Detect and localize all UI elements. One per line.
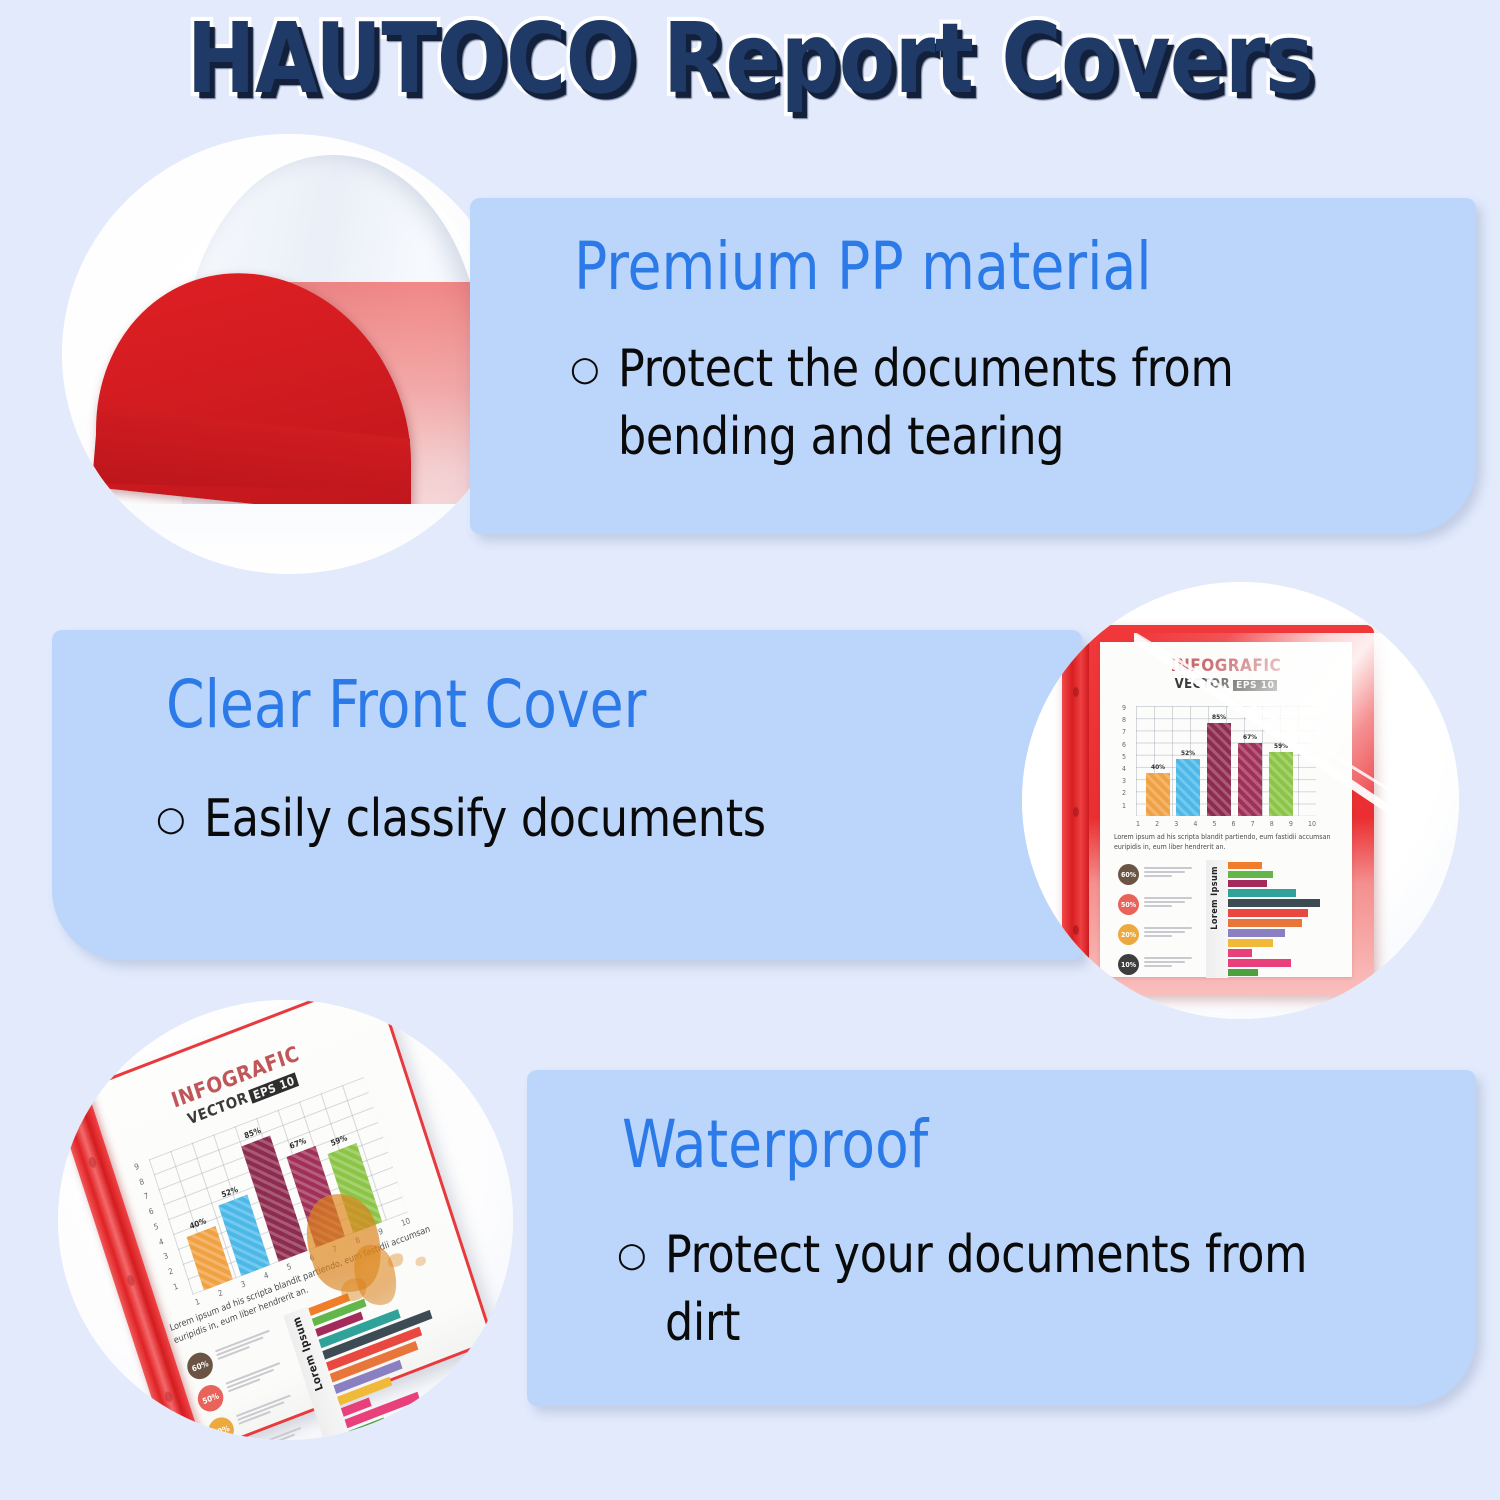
feature-bullet: ○ Easily classify documents bbox=[156, 786, 1056, 854]
chart-bar-label: 67% bbox=[1243, 733, 1257, 741]
stat-badge-text-lines bbox=[1144, 927, 1192, 939]
chart-bar-label: 40% bbox=[1151, 763, 1165, 771]
feature-bullet-text: Protect your documents from dirt bbox=[665, 1222, 1380, 1357]
hbar bbox=[1228, 949, 1252, 957]
stat-badge-text-lines bbox=[1144, 867, 1192, 879]
stat-badge-text-lines bbox=[1144, 897, 1192, 909]
chart-bar bbox=[1269, 752, 1293, 816]
feature-bullet-text: Easily classify documents bbox=[204, 786, 766, 854]
document-paragraph: Lorem ipsum ad his scripta blandit parti… bbox=[1114, 832, 1338, 852]
stat-badge-text-lines bbox=[215, 1330, 273, 1362]
bullet-circle-icon: ○ bbox=[570, 336, 600, 392]
stat-badge: 50% bbox=[1118, 894, 1139, 915]
chart-bar bbox=[1238, 743, 1262, 816]
feature-bullet-text: Protect the documents from bending and t… bbox=[618, 336, 1409, 471]
hbar bbox=[1228, 880, 1267, 887]
feature-panel-clear-front-cover: Clear Front Cover ○ Easily classify docu… bbox=[52, 630, 1082, 960]
hbar bbox=[1228, 871, 1273, 878]
feature-heading: Premium PP material bbox=[574, 234, 1152, 300]
chart-bar bbox=[1207, 723, 1231, 816]
chart-bar-label: 52% bbox=[1181, 749, 1195, 757]
chart-y-axis-ticks: 987654321 bbox=[1122, 702, 1126, 812]
product-photo-clear-front-cover: INFOGRAFIC VECTOREPS 10 987654321 123456… bbox=[1022, 582, 1459, 1019]
stat-badge-text-lines bbox=[236, 1394, 294, 1426]
hbar bbox=[1228, 909, 1308, 917]
chart-bar-label: 59% bbox=[1274, 742, 1288, 750]
hbar bbox=[1228, 959, 1291, 967]
hbar-label: Lorem Ipsum bbox=[1210, 866, 1220, 930]
feature-bullet: ○ Protect your documents from dirt bbox=[617, 1222, 1417, 1357]
page-header: HAUTOCO Report Covers bbox=[0, 0, 1500, 118]
stat-badge: 10% bbox=[1118, 954, 1139, 975]
spine-hole bbox=[164, 1390, 174, 1403]
spine-hole bbox=[126, 1274, 136, 1287]
document-subtitle-text: VECTOR bbox=[1175, 677, 1231, 692]
stat-badge-text-lines bbox=[226, 1362, 284, 1394]
document-title: INFOGRAFIC bbox=[1100, 656, 1352, 676]
document-subtitle: VECTOREPS 10 bbox=[1100, 677, 1352, 692]
bullet-circle-icon: ○ bbox=[617, 1222, 647, 1278]
spine-hole bbox=[1073, 807, 1079, 817]
hbar bbox=[1228, 889, 1296, 897]
product-photo-waterproof: INFOGRAFIC VECTOREPS 10 987654321 123456… bbox=[58, 1000, 513, 1440]
chart-bar-label: 85% bbox=[1212, 713, 1226, 721]
inserted-document-sheet: INFOGRAFIC VECTOREPS 10 987654321 123456… bbox=[1100, 642, 1352, 977]
page-title: HAUTOCO Report Covers bbox=[187, 3, 1314, 115]
spine-hole bbox=[1073, 687, 1079, 697]
spine-hole bbox=[88, 1156, 98, 1169]
hbar bbox=[1228, 929, 1285, 937]
feature-heading: Clear Front Cover bbox=[166, 672, 646, 738]
feature-bullet: ○ Protect the documents from bending and… bbox=[570, 336, 1450, 471]
hbar bbox=[1228, 899, 1320, 907]
red-report-cover: INFOGRAFIC VECTOREPS 10 987654321 123456… bbox=[1062, 625, 1374, 995]
hbar bbox=[1228, 969, 1258, 976]
stat-badge: 60% bbox=[1118, 864, 1139, 885]
liquid-spill-droplet bbox=[414, 1255, 427, 1268]
stat-badge: 20% bbox=[205, 1414, 237, 1440]
stat-badge: 60% bbox=[184, 1349, 216, 1383]
stat-badge: 50% bbox=[194, 1381, 226, 1415]
chart-bar bbox=[1176, 759, 1200, 816]
chart-x-axis-ticks: 12345678910 bbox=[1136, 820, 1316, 828]
bullet-circle-icon: ○ bbox=[156, 786, 186, 842]
feature-heading: Waterproof bbox=[622, 1112, 928, 1178]
product-photo-bending-cover bbox=[62, 134, 517, 574]
feature-panel-waterproof: Waterproof ○ Protect your documents from… bbox=[527, 1070, 1476, 1406]
spine-hole bbox=[1073, 925, 1079, 935]
chart-bar bbox=[1146, 773, 1170, 816]
hbar bbox=[1228, 919, 1302, 927]
document-eps-tag: EPS 10 bbox=[1233, 680, 1277, 691]
hbar bbox=[1228, 939, 1273, 947]
hbar bbox=[1228, 862, 1262, 869]
cover-spine bbox=[1062, 625, 1089, 995]
stat-badge: 20% bbox=[1118, 924, 1139, 945]
stat-badge-text-lines bbox=[1144, 957, 1192, 969]
feature-panel-premium-pp-material: Premium PP material ○ Protect the docume… bbox=[470, 198, 1476, 534]
photo-base-shadow bbox=[62, 504, 517, 574]
